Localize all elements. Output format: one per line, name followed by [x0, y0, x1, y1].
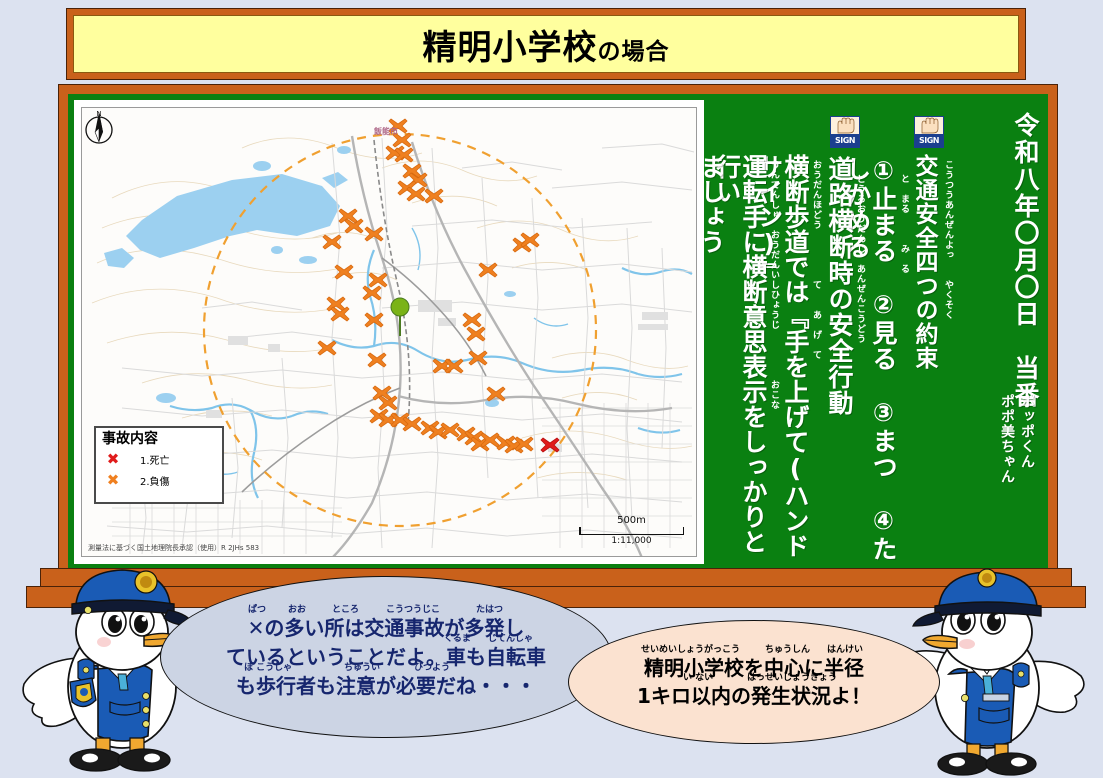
- bubble-right-line-2-text: 1キロ以内の発生状況よ！: [637, 684, 871, 708]
- legend-label-injury: 2.負傷: [140, 473, 170, 488]
- heading-safety-promises: 交通安全四つの約束: [912, 154, 936, 370]
- map-attribution: 測量法に基づく国土地理院長承認（使用）R 2JHs 583: [88, 543, 259, 553]
- speech-bubble-popomi-text: せいめいしょうがっこう ちゅうしん はんけい 精明小学校を中心に半径 い ない …: [637, 650, 871, 714]
- legend-row-injury: ✖ 2.負傷: [102, 471, 216, 489]
- page-title: 精明小学校の場合: [423, 20, 670, 69]
- bubble-left-line-3: ほ こうしゃ ちゅうい ひつよう も歩行者も注意が必要だね・・・: [226, 676, 546, 696]
- rb-l1-4: こうつうじこ: [386, 606, 440, 615]
- duty-name-popomi: ポポ美ちゃん: [999, 394, 1014, 484]
- injury-markers: [318, 119, 539, 453]
- rb-l1-3: ところ: [332, 606, 359, 615]
- scale-ratio: 1:11,000: [611, 536, 651, 546]
- bubble-right-line-2: い ない はっせいじょうきょう 1キロ以内の発生状況よ！: [637, 686, 871, 706]
- hand-sign-icon-1: SIGN: [914, 116, 944, 148]
- hand-sign-label-2: SIGN: [831, 134, 859, 147]
- rb-l2-1: くるま: [444, 635, 471, 644]
- page-title-suffix: の場合: [598, 39, 670, 65]
- rb-l2-2: じてんしゃ: [488, 635, 533, 644]
- rb-l3-2: ちゅうい: [344, 664, 380, 673]
- compass-north-label: N: [96, 110, 101, 118]
- map-panel: N 飯能市 事故内容 ✖ 1.死亡 ✖ 2.負傷: [74, 100, 704, 564]
- bubble-left-line-1-text: ✕の多い所は交通事故が多発し: [248, 616, 525, 640]
- board-body-line-1-ruby: おうだんほどう て あ げ て: [811, 160, 820, 360]
- safety-promises-ruby: と まる み る: [899, 174, 908, 274]
- rb-l3-3: ひつよう: [414, 664, 450, 673]
- title-panel: 精明小学校の場合: [73, 15, 1019, 73]
- city-label: 飯能市: [374, 126, 398, 137]
- rb-r1-3: はんけい: [827, 646, 863, 655]
- rb-l1-1: ぱつ: [248, 606, 266, 615]
- legend-row-fatal: ✖ 1.死亡: [102, 450, 216, 468]
- rb-r2-1: い ない: [683, 674, 713, 683]
- title-frame: 精明小学校の場合: [66, 8, 1026, 80]
- bubble-left-line-3-text: も歩行者も注意が必要だね・・・: [236, 674, 536, 698]
- hand-sign-icon-2: SIGN: [830, 116, 860, 148]
- injury-x-icon: ✖: [102, 471, 124, 489]
- board-date: 令和八年〇月〇日 当番: [1012, 112, 1038, 409]
- hand-glyph-2: [831, 117, 859, 134]
- rb-l1-5: たはつ: [476, 606, 503, 615]
- rb-r1-1: せいめいしょうがっこう: [641, 646, 740, 655]
- poster-stage: 精明小学校の場合: [0, 0, 1103, 778]
- fatal-x-icon: ✖: [102, 450, 124, 468]
- legend-title: 事故内容: [102, 432, 216, 447]
- scale-distance: 500m: [579, 515, 684, 527]
- scalebar-line: 500m: [579, 527, 684, 535]
- speech-bubble-popomi: せいめいしょうがっこう ちゅうしん はんけい 精明小学校を中心に半径 い ない …: [568, 620, 940, 744]
- map-legend: 事故内容 ✖ 1.死亡 ✖ 2.負傷: [94, 426, 224, 504]
- accident-map[interactable]: N 飯能市 事故内容 ✖ 1.死亡 ✖ 2.負傷: [81, 107, 697, 557]
- rb-r1-2: ちゅうしん: [765, 646, 810, 655]
- board-body-line-3: ましょう: [698, 154, 724, 254]
- speech-bubble-poppo-text: ぱつ おお ところ こうつうじこ たはつ ✕の多い所は交通事故が多発し くるま …: [226, 609, 546, 705]
- map-scalebar: 500m 1:11,000: [579, 527, 684, 546]
- blackboard-frame: N 飯能市 事故内容 ✖ 1.死亡 ✖ 2.負傷: [58, 84, 1058, 582]
- board-body-line-2-ruby: うんてんしゅ おうだんいしひょうじ おこな: [769, 160, 778, 410]
- duty-name-poppo: ポッポくん: [1019, 394, 1034, 469]
- speech-bubble-poppo: ぱつ おお ところ こうつうじこ たはつ ✕の多い所は交通事故が多発し くるま …: [160, 576, 612, 738]
- hand-sign-label-1: SIGN: [915, 134, 943, 147]
- page-title-main: 精明小学校: [423, 28, 598, 68]
- heading-road-crossing: 道路横断時の安全行動: [826, 156, 852, 416]
- blackboard: N 飯能市 事故内容 ✖ 1.死亡 ✖ 2.負傷: [68, 94, 1048, 572]
- fatal-marker: [541, 438, 559, 452]
- heading-crossing-ruby: どうろおうだんじ あんぜんこうどう: [855, 174, 864, 344]
- rb-l3-1: ほ こうしゃ: [244, 664, 292, 673]
- legend-label-fatal: 1.死亡: [140, 452, 170, 467]
- hand-glyph-1: [915, 117, 943, 134]
- rb-l1-2: おお: [288, 606, 306, 615]
- heading-safety-ruby: こうつうあんぜんよっ やくそく: [943, 160, 952, 320]
- compass-icon: N: [82, 108, 116, 148]
- rb-r2-2: はっせいじょうきょう: [747, 674, 837, 683]
